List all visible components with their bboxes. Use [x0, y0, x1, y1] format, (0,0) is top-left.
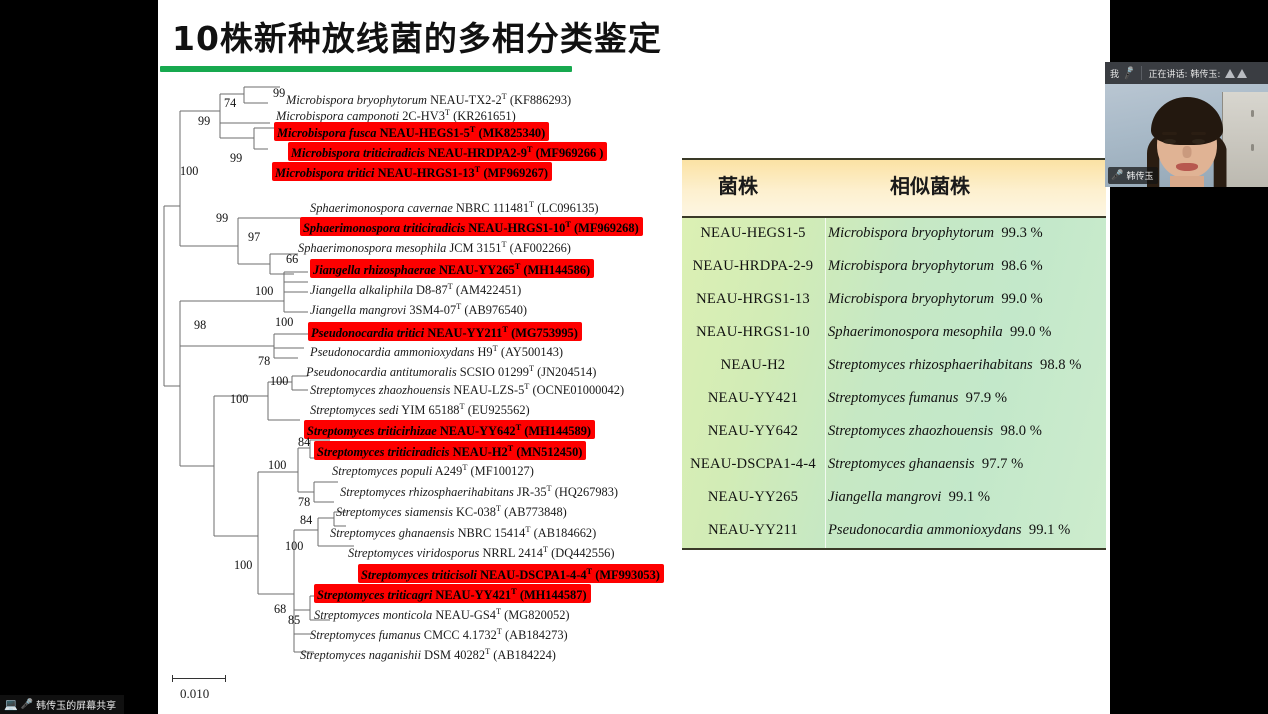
- bootstrap-value: 84: [298, 435, 310, 450]
- screen-share-label: 韩传玉的屏幕共享: [36, 697, 116, 712]
- tree-leaf: Streptomyces ghanaensis NBRC 15414T (AB1…: [330, 523, 596, 540]
- tree-leaf: Streptomyces viridosporus NRRL 2414T (DQ…: [348, 543, 614, 560]
- mic-icon: 🎤: [21, 699, 33, 710]
- toolbar-divider: [1141, 66, 1142, 80]
- bootstrap-value: 74: [224, 96, 236, 111]
- cell-strain: NEAU-DSCPA1-4-4: [682, 456, 824, 473]
- cell-similar: Streptomyces zhaozhouensis 98.0 %: [828, 423, 1042, 440]
- tree-leaf: Streptomyces fumanus CMCC 4.1732T (AB184…: [310, 625, 568, 642]
- tree-leaf: Sphaerimonospora cavernae NBRC 111481T (…: [310, 198, 599, 215]
- person-eyebrow-right: [1191, 132, 1206, 135]
- bootstrap-value: 99: [216, 211, 228, 226]
- bootstrap-value: 78: [258, 354, 270, 369]
- mic-active-icon: 🎤: [1111, 170, 1123, 181]
- tree-leaf: Jiangella alkaliphila D8-87T (AM422451): [310, 280, 521, 297]
- column-header-strain: 菌株: [718, 170, 758, 199]
- bootstrap-value: 99: [273, 86, 285, 101]
- table-row: NEAU-HRDPA-2-9 Microbispora bryophytorum…: [682, 251, 1106, 284]
- cell-strain: NEAU-YY642: [682, 423, 824, 440]
- bootstrap-value: 100: [255, 284, 273, 299]
- table-row: NEAU-HEGS1-5 Microbispora bryophytorum 9…: [682, 218, 1106, 251]
- similarity-table: 菌株 相似菌株 NEAU-HEGS1-5 Microbispora bryoph…: [682, 158, 1106, 550]
- screen-root: 10株新种放线菌的多相分类鉴定: [0, 0, 1268, 714]
- table-row: NEAU-YY642 Streptomyces zhaozhouensis 98…: [682, 416, 1106, 449]
- bootstrap-value: 98: [194, 318, 206, 333]
- cell-similar: Streptomyces ghanaensis 97.7 %: [828, 456, 1023, 473]
- scale-tick-right: [225, 675, 226, 682]
- tree-leaf-highlighted: Streptomyces triticiradicis NEAU-H2T (MN…: [314, 441, 586, 460]
- table-body: NEAU-HEGS1-5 Microbispora bryophytorum 9…: [682, 218, 1106, 550]
- scale-bar-label: 0.010: [180, 686, 209, 702]
- tree-leaf: Streptomyces zhaozhouensis NEAU-LZS-5T (…: [310, 380, 624, 397]
- tree-leaf: Microbispora bryophytorum NEAU-TX2-2T (K…: [286, 90, 571, 107]
- table-row: NEAU-DSCPA1-4-4 Streptomyces ghanaensis …: [682, 449, 1106, 482]
- person-neck: [1170, 176, 1204, 187]
- video-background-cabinet: [1222, 92, 1268, 187]
- tree-leaf-highlighted: Streptomyces triticirhizae NEAU-YY642T (…: [304, 420, 595, 439]
- cell-similar: Streptomyces rhizosphaerihabitans 98.8 %: [828, 357, 1081, 374]
- tree-leaf: Streptomyces siamensis KC-038T (AB773848…: [336, 502, 567, 519]
- cabinet-handle-icon: [1251, 144, 1254, 151]
- bootstrap-value: 100: [285, 539, 303, 554]
- tree-leaf: Pseudonocardia ammonioxydans H9T (AY5001…: [310, 342, 563, 359]
- bootstrap-value: 84: [300, 513, 312, 528]
- column-header-similar: 相似菌株: [890, 170, 970, 199]
- bootstrap-value: 97: [248, 230, 260, 245]
- bootstrap-value: 66: [286, 252, 298, 267]
- person-mouth: [1176, 163, 1198, 171]
- screen-share-status-bar: 💻 🎤 韩传玉的屏幕共享: [0, 695, 124, 714]
- video-feed[interactable]: 🎤 韩传玉: [1105, 84, 1268, 187]
- cell-strain: NEAU-YY265: [682, 489, 824, 506]
- bootstrap-value: 78: [298, 495, 310, 510]
- presentation-slide: 10株新种放线菌的多相分类鉴定: [158, 0, 1110, 714]
- table-row: NEAU-YY421 Streptomyces fumanus 97.9 %: [682, 383, 1106, 416]
- cell-strain: NEAU-YY421: [682, 390, 824, 407]
- video-panel-toolbar[interactable]: 我 🎤 正在讲话: 韩传玉:: [1105, 62, 1268, 84]
- person-nose: [1182, 146, 1191, 158]
- cell-similar: Microbispora bryophytorum 98.6 %: [828, 258, 1043, 275]
- table-row: NEAU-HRGS1-10 Sphaerimonospora mesophila…: [682, 317, 1106, 350]
- participant-name-badge: 🎤 韩传玉: [1108, 167, 1158, 184]
- scale-bar-line: [172, 678, 226, 679]
- tree-leaf: Streptomyces naganishii DSM 40282T (AB18…: [300, 645, 556, 662]
- bootstrap-value: 99: [198, 114, 210, 129]
- tree-leaf-highlighted: Pseudonocardia tritici NEAU-YY211T (MG75…: [308, 322, 582, 341]
- tree-leaf-highlighted: Microbispora tritici NEAU-HRGS1-13T (MF9…: [272, 162, 552, 181]
- bootstrap-value: 100: [270, 374, 288, 389]
- cell-similar: Microbispora bryophytorum 99.3 %: [828, 225, 1043, 242]
- person-eye-right: [1192, 139, 1205, 144]
- tree-leaf: Streptomyces rhizosphaerihabitans JR-35T…: [340, 482, 618, 499]
- cell-similar: Microbispora bryophytorum 99.0 %: [828, 291, 1043, 308]
- participant-name: 韩传玉: [1126, 169, 1153, 182]
- cell-strain: NEAU-HEGS1-5: [682, 225, 824, 242]
- tree-leaf-highlighted: Microbispora triticiradicis NEAU-HRDPA2-…: [288, 142, 607, 161]
- cell-strain: NEAU-HRGS1-10: [682, 324, 824, 341]
- tree-leaf: Sphaerimonospora mesophila JCM 3151T (AF…: [298, 238, 571, 255]
- audio-level-indicator: [1225, 69, 1247, 78]
- bootstrap-value: 68: [274, 602, 286, 617]
- tree-leaf-highlighted: Streptomyces triticagri NEAU-YY421T (MH1…: [314, 584, 591, 603]
- person-eye-left: [1163, 139, 1176, 144]
- cell-similar: Jiangella mangrovi 99.1 %: [828, 489, 990, 506]
- me-label: 我: [1105, 67, 1119, 80]
- table-header-row: 菌株 相似菌株: [682, 158, 1106, 218]
- tree-leaf: Streptomyces monticola NEAU-GS4T (MG8200…: [314, 605, 570, 622]
- page-title: 10株新种放线菌的多相分类鉴定: [172, 12, 662, 60]
- scale-tick-left: [172, 675, 173, 682]
- table-row: NEAU-HRGS1-13 Microbispora bryophytorum …: [682, 284, 1106, 317]
- tree-leaf: Streptomyces sedi YIM 65188T (EU925562): [310, 400, 530, 417]
- bootstrap-value: 100: [234, 558, 252, 573]
- cell-similar: Streptomyces fumanus 97.9 %: [828, 390, 1007, 407]
- cabinet-handle-icon: [1251, 110, 1254, 117]
- bootstrap-value: 100: [268, 458, 286, 473]
- mic-muted-icon[interactable]: 🎤: [1122, 66, 1137, 81]
- cell-strain: NEAU-HRDPA-2-9: [682, 258, 824, 275]
- cell-strain: NEAU-HRGS1-13: [682, 291, 824, 308]
- cell-strain: NEAU-YY211: [682, 522, 824, 539]
- cell-similar: Pseudonocardia ammonioxydans 99.1 %: [828, 522, 1070, 539]
- monitor-icon: 💻: [4, 698, 18, 711]
- bootstrap-value: 100: [275, 315, 293, 330]
- cell-strain: NEAU-H2: [682, 357, 824, 374]
- phylogenetic-tree: Microbispora bryophytorum NEAU-TX2-2T (K…: [158, 86, 698, 686]
- table-row: NEAU-YY265 Jiangella mangrovi 99.1 %: [682, 482, 1106, 515]
- tree-leaf: Streptomyces populi A249T (MF100127): [332, 461, 534, 478]
- bootstrap-value: 85: [288, 613, 300, 628]
- tree-leaf: Microbispora camponoti 2C-HV3T (KR261651…: [276, 106, 516, 123]
- video-participant-panel[interactable]: 我 🎤 正在讲话: 韩传玉: 🎤 韩传玉: [1105, 62, 1268, 187]
- active-speaker-label: 正在讲话: 韩传玉:: [1148, 67, 1220, 80]
- tree-leaf: Pseudonocardia antitumoralis SCSIO 01299…: [306, 362, 596, 379]
- tree-leaf: Jiangella mangrovi 3SM4-07T (AB976540): [310, 300, 527, 317]
- tree-leaf-highlighted: Streptomyces triticisoli NEAU-DSCPA1-4-4…: [358, 564, 664, 583]
- table-row: NEAU-H2 Streptomyces rhizosphaerihabitan…: [682, 350, 1106, 383]
- bootstrap-value: 100: [230, 392, 248, 407]
- cell-similar: Sphaerimonospora mesophila 99.0 %: [828, 324, 1051, 341]
- bootstrap-value: 99: [230, 151, 242, 166]
- table-row: NEAU-YY211 Pseudonocardia ammonioxydans …: [682, 515, 1106, 548]
- person-eyebrow-left: [1162, 132, 1177, 135]
- title-underline: [160, 66, 572, 72]
- tree-leaf-highlighted: Jiangella rhizosphaerae NEAU-YY265T (MH1…: [310, 259, 594, 278]
- tree-leaf-highlighted: Microbispora fusca NEAU-HEGS1-5T (MK8253…: [274, 122, 549, 141]
- tree-leaf-highlighted: Sphaerimonospora triticiradicis NEAU-HRG…: [300, 217, 643, 236]
- bootstrap-value: 100: [180, 164, 198, 179]
